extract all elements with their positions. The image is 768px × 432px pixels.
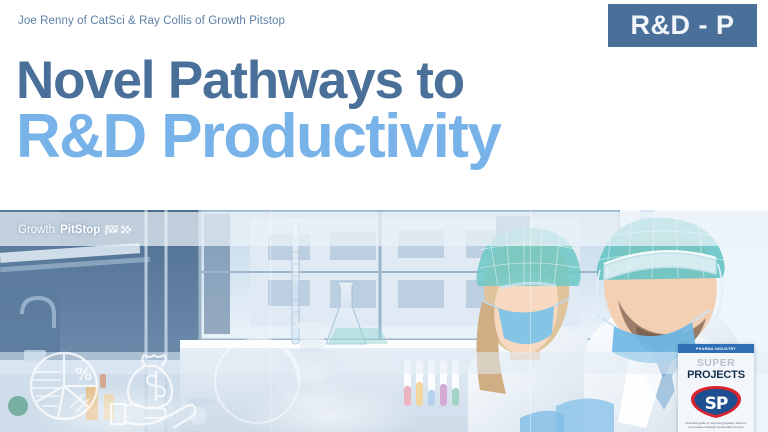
checkered-flag-icon [105,225,118,236]
byline: Joe Renny of CatSci & Ray Collis of Grow… [18,15,285,27]
lab-photo [0,210,768,432]
headline-line-2: R&D Productivity [16,108,756,166]
slide-canvas: Joe Renny of CatSci & Ray Collis of Grow… [0,0,768,432]
book-banner: PHARMA INDUSTRY [678,344,754,353]
rd-badge: R&D - P [608,4,757,47]
book-title-bottom: PROJECTS [678,370,754,381]
book-subtitle: Practical guide to improving pipeline de… [678,421,754,430]
book-title-top: SUPER [678,358,754,369]
book-emblem: SP [678,384,754,420]
svg-text:SP: SP [705,394,728,414]
page-title: Novel Pathways to R&D Productivity [16,56,756,166]
headline-line-1: Novel Pathways to [16,56,756,106]
lab-photo-illustration [0,210,768,432]
overlay-divider-1 [270,210,271,432]
checkered-pattern-icon [121,225,132,236]
rd-badge-label: R&D - P [631,10,735,41]
book-cover[interactable]: PHARMA INDUSTRY SUPER PROJECTS SP Practi… [678,344,754,432]
overlay-divider-2 [530,210,531,432]
logo-word-growth: Growth [18,224,55,236]
super-projects-shield-icon: SP [689,384,743,420]
logo-word-pitstop: PitStop [60,224,100,236]
growth-pitstop-logo[interactable]: Growth PitStop [18,222,132,238]
